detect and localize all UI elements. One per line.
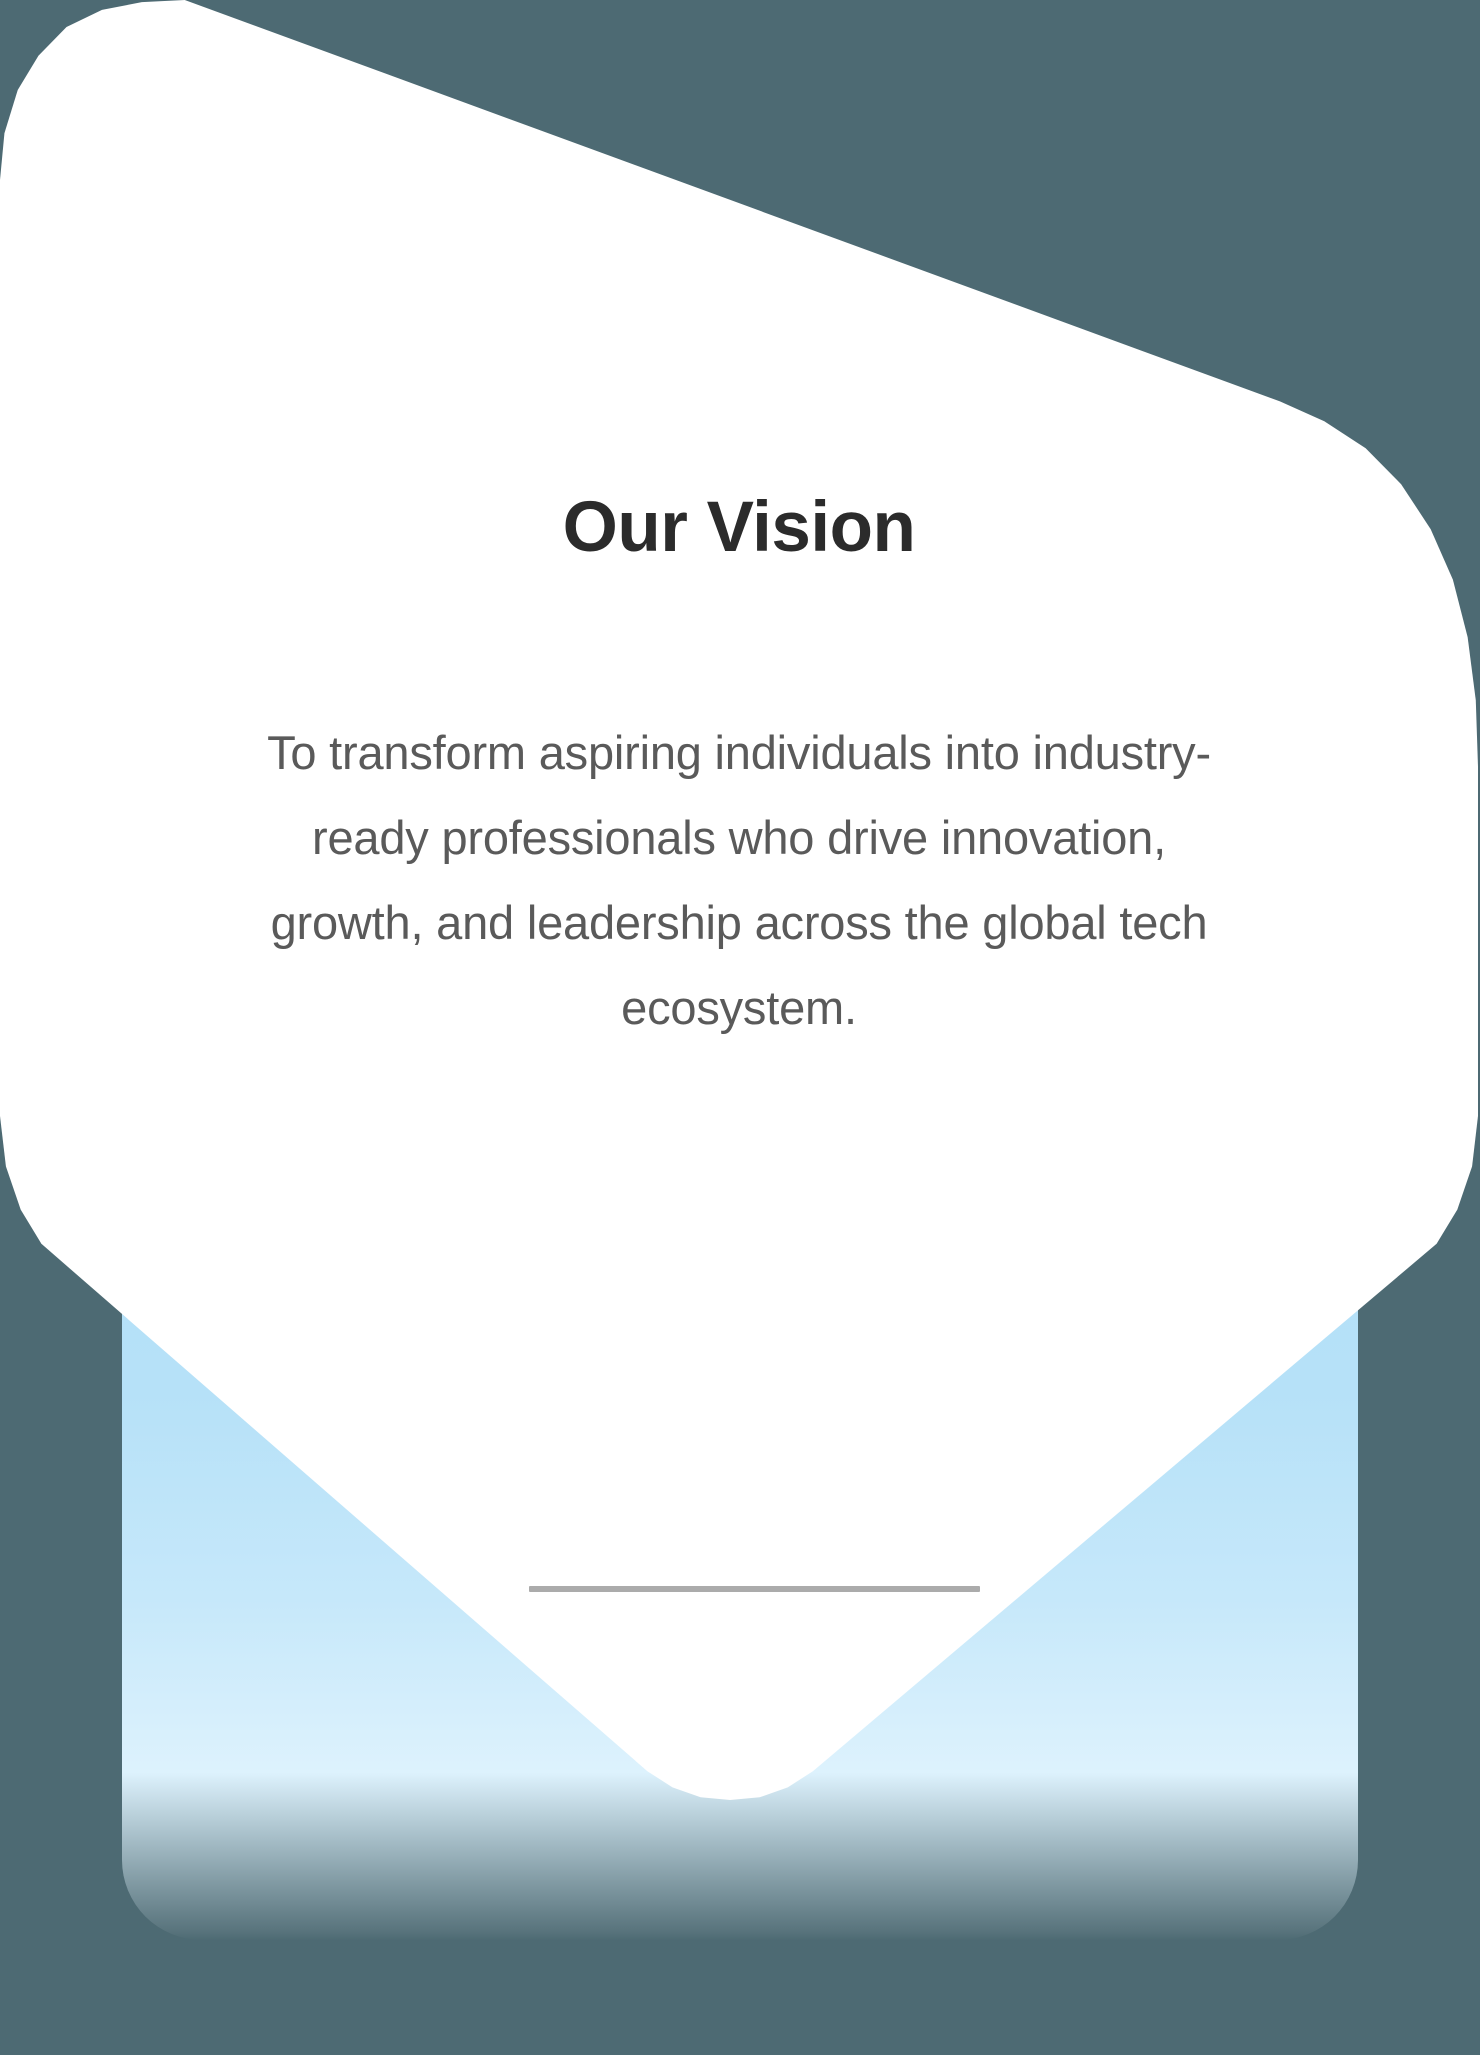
divider-rule	[529, 1586, 980, 1592]
vision-card-stage: Our Vision To transform aspiring individ…	[0, 0, 1480, 2055]
page-title: Our Vision	[0, 492, 1478, 563]
vision-card-content: Our Vision To transform aspiring individ…	[0, 0, 1478, 1800]
vision-description: To transform aspiring individuals into i…	[249, 710, 1229, 1050]
